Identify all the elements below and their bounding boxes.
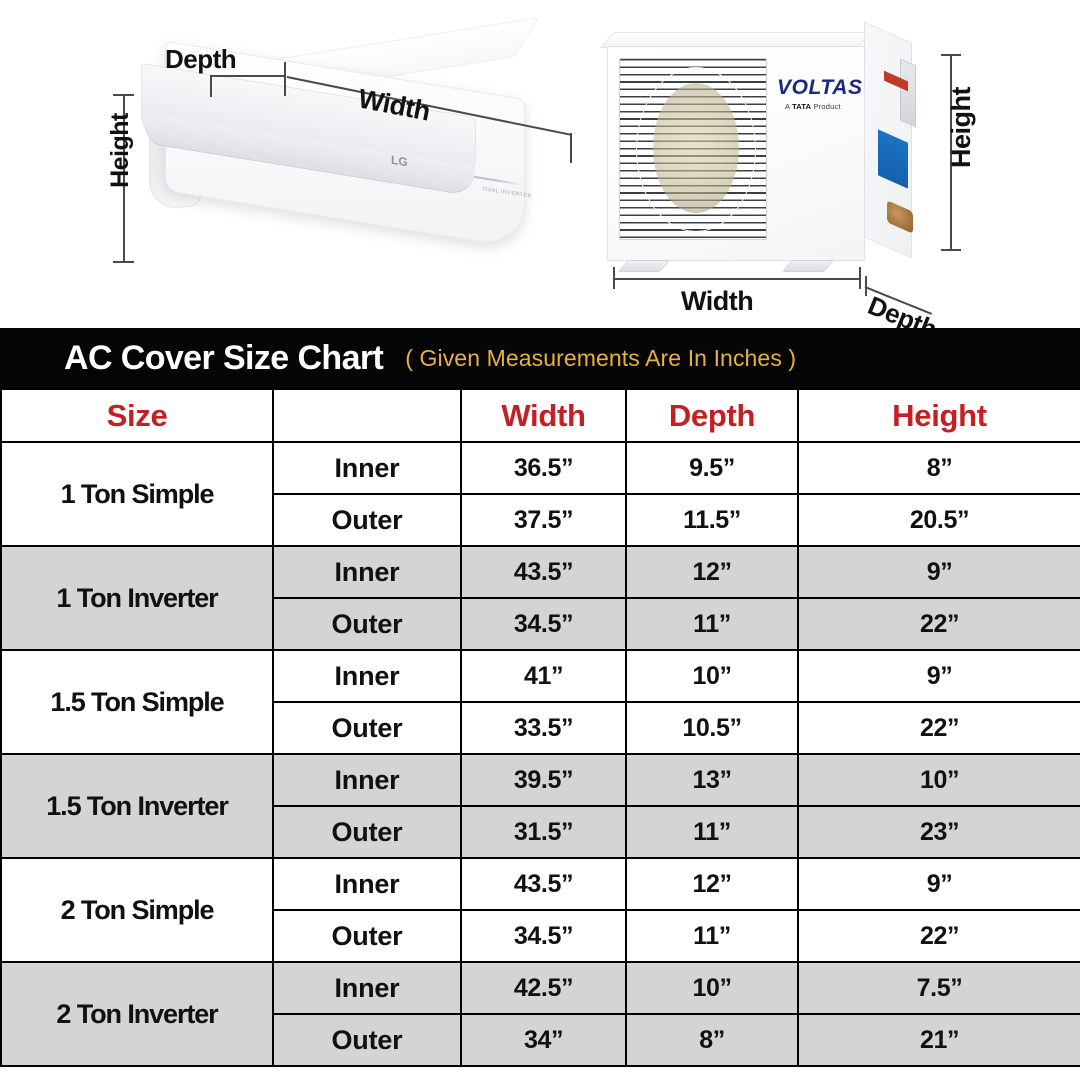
layer-label-cell: Outer [273,598,461,650]
width-value-cell: 31.5” [461,806,626,858]
height-value-cell: 10” [798,754,1080,806]
depth-value-cell: 13” [626,754,798,806]
outdoor-unit-mount-foot-left [618,260,670,272]
layer-label-cell: Outer [273,910,461,962]
layer-label-cell: Inner [273,754,461,806]
outdoor-width-tick-right [859,267,861,289]
depth-value-cell: 11.5” [626,494,798,546]
width-value-cell: 42.5” [461,962,626,1014]
table-body: 1 Ton Simple Inner 36.5” 9.5” 8” Outer 3… [1,442,1080,1066]
depth-value-cell: 10” [626,962,798,1014]
height-value-cell: 22” [798,702,1080,754]
indoor-depth-tick-left [210,75,212,97]
outdoor-depth-label: Depth [863,290,941,328]
size-label-cell: 1 Ton Inverter [1,546,273,650]
outdoor-height-label: Height [946,87,977,168]
indoor-depth-label: Depth [165,44,236,75]
outdoor-unit-fan-grille [619,58,767,240]
voltas-logo: VOLTAS [777,76,863,100]
height-value-cell: 22” [798,598,1080,650]
column-header-size: Size [1,389,273,442]
indoor-unit-illustration: LG DUAL INVERTER Height Depth Width [105,28,560,293]
height-value-cell: 9” [798,546,1080,598]
lg-logo: LG [391,153,408,170]
column-header-layer [273,389,461,442]
layer-label-cell: Outer [273,806,461,858]
layer-label-cell: Outer [273,494,461,546]
width-value-cell: 34.5” [461,598,626,650]
table-row: 2 Ton Simple Inner 43.5” 12” 9” [1,858,1080,910]
indoor-height-tick-top [113,94,134,96]
column-header-height: Height [798,389,1080,442]
size-label-cell: 1.5 Ton Inverter [1,754,273,858]
outdoor-unit-terminal-panel [900,58,916,127]
column-header-width: Width [461,389,626,442]
indoor-depth-tick-right [284,62,286,96]
layer-label-cell: Outer [273,702,461,754]
indoor-height-tick-bottom [113,261,134,263]
width-value-cell: 43.5” [461,858,626,910]
outdoor-unit-mount-foot-right [782,260,834,272]
depth-value-cell: 10.5” [626,702,798,754]
depth-value-cell: 8” [626,1014,798,1066]
depth-value-cell: 11” [626,598,798,650]
table-row: 1 Ton Simple Inner 36.5” 9.5” 8” [1,442,1080,494]
indoor-width-tick-right [570,133,572,163]
layer-label-cell: Inner [273,546,461,598]
layer-label-cell: Inner [273,442,461,494]
width-value-cell: 43.5” [461,546,626,598]
table-header: Size Width Depth Height [1,389,1080,442]
outdoor-depth-tick-left [865,276,867,296]
page-subtitle: ( Given Measurements Are In Inches ) [405,345,796,372]
height-value-cell: 8” [798,442,1080,494]
width-value-cell: 41” [461,650,626,702]
depth-value-cell: 12” [626,858,798,910]
voltas-sublabel-suffix: Product [811,102,841,111]
depth-value-cell: 10” [626,650,798,702]
depth-value-cell: 12” [626,546,798,598]
size-label-cell: 1 Ton Simple [1,442,273,546]
indoor-height-label: Height [106,113,135,188]
depth-value-cell: 11” [626,910,798,962]
outdoor-unit-grille-ring [636,67,756,232]
column-header-depth: Depth [626,389,798,442]
indoor-depth-axis [210,75,285,77]
depth-value-cell: 11” [626,806,798,858]
ac-cover-size-chart-page: LG DUAL INVERTER Height Depth Width VOLT… [0,0,1080,1080]
tata-wordmark: TATA [792,102,811,111]
width-value-cell: 37.5” [461,494,626,546]
chart-title-bar: AC Cover Size Chart ( Given Measurements… [0,328,1080,388]
table-row: 1.5 Ton Simple Inner 41” 10” 9” [1,650,1080,702]
outdoor-height-tick-top [941,54,961,56]
table-row: 1.5 Ton Inverter Inner 39.5” 13” 10” [1,754,1080,806]
width-value-cell: 34.5” [461,910,626,962]
size-label-cell: 1.5 Ton Simple [1,650,273,754]
table-row: 1 Ton Inverter Inner 43.5” 12” 9” [1,546,1080,598]
height-value-cell: 22” [798,910,1080,962]
height-value-cell: 9” [798,858,1080,910]
outdoor-width-axis [613,278,861,280]
size-label-cell: 2 Ton Simple [1,858,273,962]
layer-label-cell: Inner [273,650,461,702]
outdoor-unit-illustration: VOLTAS A TATA Product Height Width Depth [595,24,995,314]
width-value-cell: 36.5” [461,442,626,494]
layer-label-cell: Inner [273,962,461,1014]
depth-value-cell: 9.5” [626,442,798,494]
height-value-cell: 21” [798,1014,1080,1066]
height-value-cell: 7.5” [798,962,1080,1014]
width-value-cell: 39.5” [461,754,626,806]
size-label-cell: 2 Ton Inverter [1,962,273,1066]
table-header-row: Size Width Depth Height [1,389,1080,442]
voltas-sublabel: A TATA Product [785,102,841,111]
layer-label-cell: Inner [273,858,461,910]
outdoor-height-tick-bottom [941,249,961,251]
height-value-cell: 9” [798,650,1080,702]
height-value-cell: 23” [798,806,1080,858]
height-value-cell: 20.5” [798,494,1080,546]
table-row: 2 Ton Inverter Inner 42.5” 10” 7.5” [1,962,1080,1014]
product-images-area: LG DUAL INVERTER Height Depth Width VOLT… [0,0,1080,328]
layer-label-cell: Outer [273,1014,461,1066]
page-title: AC Cover Size Chart [64,339,383,378]
width-value-cell: 33.5” [461,702,626,754]
size-chart-table: Size Width Depth Height 1 Ton Simple Inn… [0,388,1080,1067]
width-value-cell: 34” [461,1014,626,1066]
outdoor-width-tick-left [613,267,615,289]
outdoor-width-label: Width [681,286,753,317]
